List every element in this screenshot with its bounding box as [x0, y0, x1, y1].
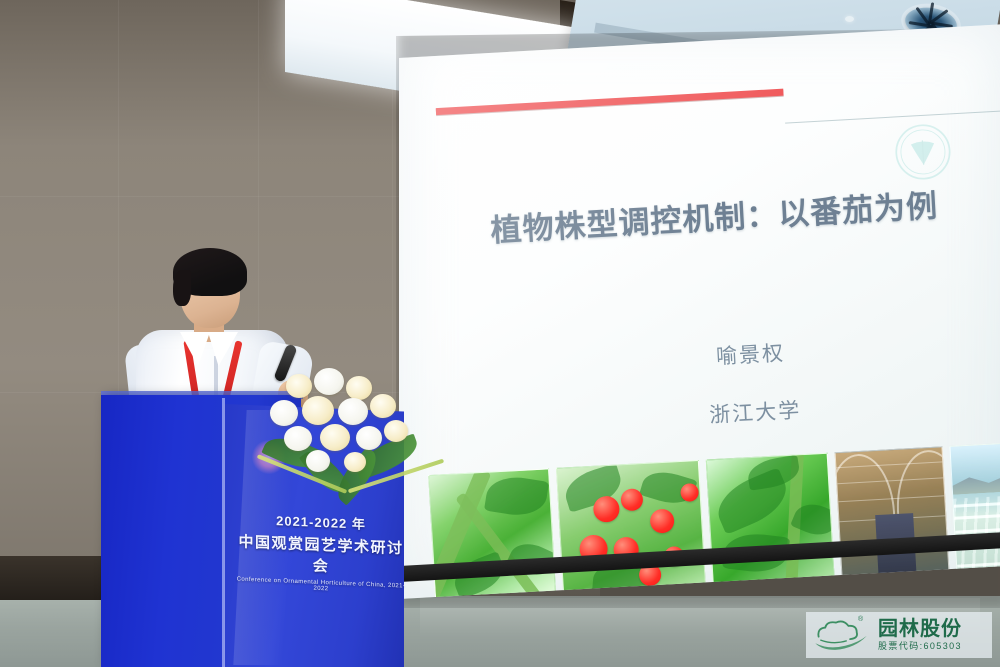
photo-tomato-stem-closeup — [428, 468, 557, 599]
slide-title: 植物株型调控机制：以番茄为例 — [489, 176, 1000, 250]
slide-hairline-rule — [785, 110, 1000, 124]
slide-affiliation: 浙江大学 — [708, 394, 802, 429]
registered-mark: ® — [858, 616, 863, 623]
slide-accent-line — [436, 89, 784, 115]
podium-sign-title-cn: 中国观赏园艺学术研讨会 — [236, 530, 406, 579]
broadcaster-watermark: ® 园林股份 股票代码:605303 — [806, 612, 992, 658]
watermark-stock-code: 股票代码:605303 — [878, 642, 962, 651]
university-emblem-icon — [892, 121, 953, 182]
podium-edge-seam — [222, 398, 225, 667]
hair-sideburn — [173, 270, 191, 306]
photo-ripe-tomato-cluster — [557, 460, 707, 599]
conference-presentation-photo: 植物株型调控机制：以番茄为例 喻景权 浙江大学 — [0, 0, 1000, 667]
photo-tomato-foliage — [706, 453, 835, 592]
flower-bouquet — [258, 368, 438, 528]
photo-greenhouse-field — [949, 440, 1000, 577]
watermark-brand-name: 园林股份 — [878, 619, 962, 639]
cloud-leaf-logo-icon: ® — [812, 618, 870, 652]
photo-greenhouse-interior — [834, 446, 949, 584]
projection-screen: 植物株型调控机制：以番茄为例 喻景权 浙江大学 — [399, 24, 1000, 599]
ceiling-spot-light — [845, 16, 854, 22]
slide-presenter-name: 喻景权 — [715, 337, 786, 371]
